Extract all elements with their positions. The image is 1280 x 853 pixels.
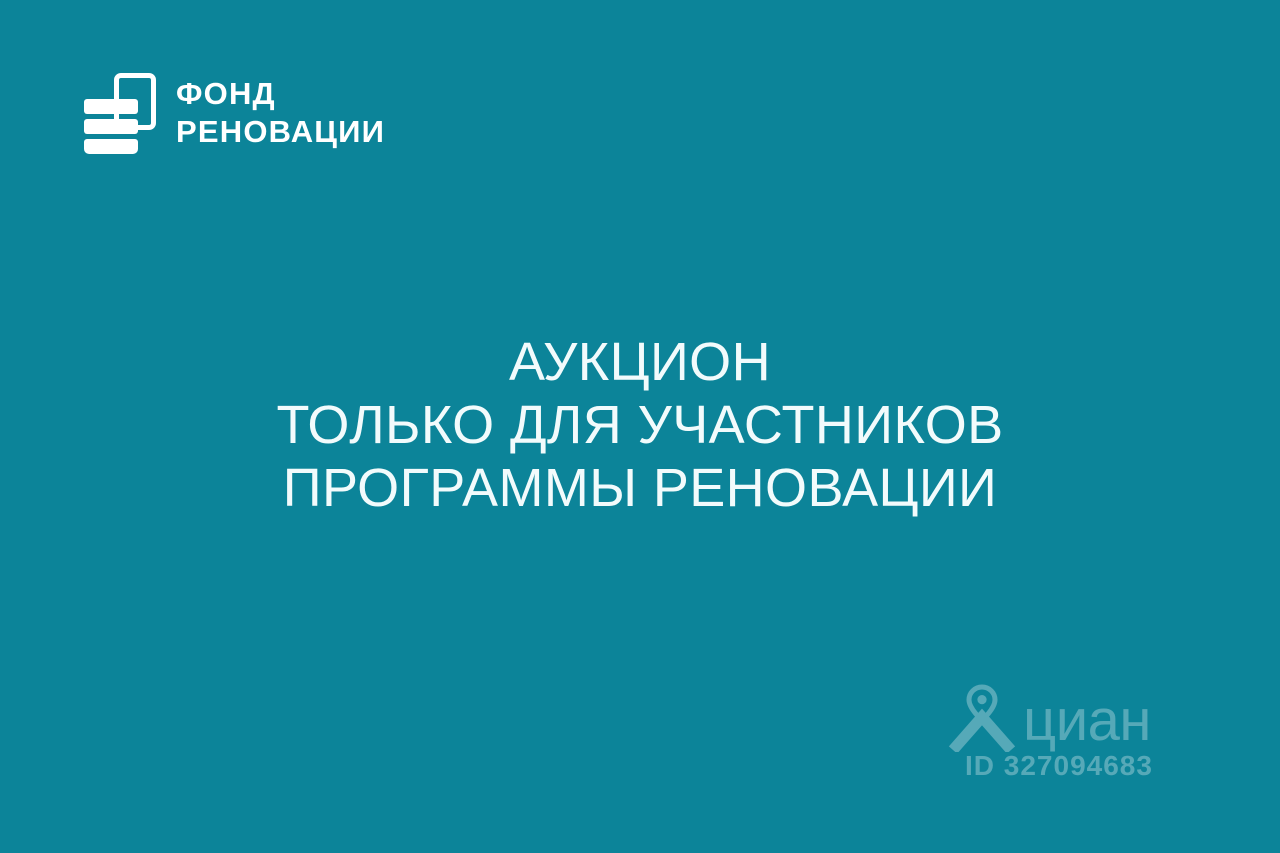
- headline-line-1: АУКЦИОН: [0, 331, 1280, 394]
- stack-bar-1: [84, 99, 138, 114]
- stack-bar-3: [84, 139, 138, 154]
- headline-block: АУКЦИОН ТОЛЬКО ДЛЯ УЧАСТНИКОВ ПРОГРАММЫ …: [0, 331, 1280, 521]
- stack-bar-2: [84, 119, 138, 134]
- brand-wordmark-line-1: ФОНД: [176, 75, 385, 113]
- cian-watermark: циан ID 327094683: [947, 684, 1180, 788]
- cian-pin-roof-icon: [947, 684, 1017, 752]
- cian-wordmark: циан: [1023, 692, 1151, 750]
- cian-listing-id: ID 327094683: [965, 750, 1153, 782]
- brand-wordmark: ФОНД РЕНОВАЦИИ: [176, 75, 385, 152]
- stacked-documents-icon: [84, 72, 158, 154]
- poster-canvas: ФОНД РЕНОВАЦИИ АУКЦИОН ТОЛЬКО ДЛЯ УЧАСТН…: [0, 0, 1280, 853]
- stacked-bars-shape: [84, 99, 138, 154]
- brand-wordmark-line-2: РЕНОВАЦИИ: [176, 113, 385, 151]
- headline-line-2: ТОЛЬКО ДЛЯ УЧАСТНИКОВ: [0, 394, 1280, 457]
- headline-line-3: ПРОГРАММЫ РЕНОВАЦИИ: [0, 457, 1280, 520]
- cian-logo-row: циан: [947, 684, 1151, 752]
- brand-lockup: ФОНД РЕНОВАЦИИ: [84, 72, 385, 154]
